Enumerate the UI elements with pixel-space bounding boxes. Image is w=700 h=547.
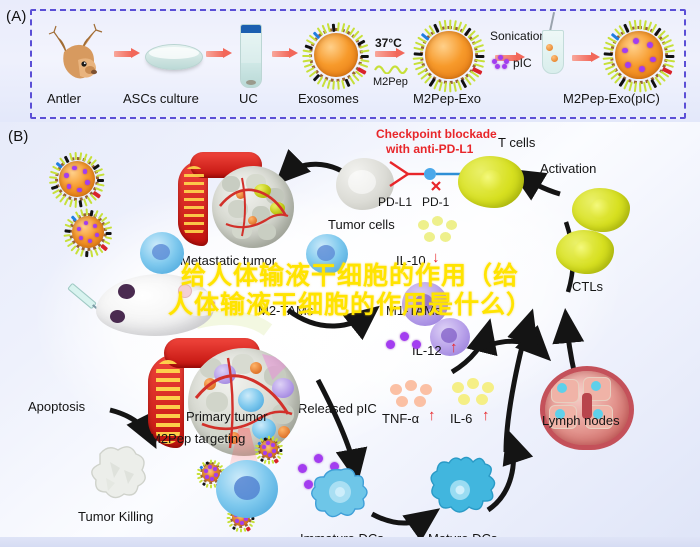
exosome-spike xyxy=(96,173,104,176)
arrow-a-3 xyxy=(272,48,298,59)
pic-cargo-dot xyxy=(650,57,656,63)
m2pep-exosome-icon xyxy=(416,22,482,88)
label-uc: UC xyxy=(239,92,258,105)
exosome-spike xyxy=(302,55,311,57)
exosome-spike xyxy=(444,20,447,30)
exosome-spike xyxy=(80,250,84,257)
exosome-icon xyxy=(305,24,367,86)
exosome-spike xyxy=(279,452,283,455)
pic-cluster-icon xyxy=(492,55,510,69)
pic-cargo-dot xyxy=(205,475,209,479)
label-t-cells: T cells xyxy=(498,136,535,149)
il-12-up-arrow: ↑ xyxy=(450,340,458,355)
panel-a-letter: (A) xyxy=(6,8,27,25)
exosome-spike xyxy=(332,24,336,32)
panel-b-bottom-edge xyxy=(0,537,700,547)
uc-tube-icon xyxy=(240,24,262,88)
label-lymph-nodes: Lymph nodes xyxy=(542,414,620,427)
label-m2pep-exo-pic: M2Pep-Exo(pIC) xyxy=(563,92,660,105)
label-pd-1: PD-1 xyxy=(422,196,449,208)
exosome-spike xyxy=(665,55,674,58)
label-m2pep-exo: M2Pep-Exo xyxy=(413,92,481,105)
exosome-spike xyxy=(75,152,77,160)
antler-deer-icon xyxy=(44,22,114,84)
ctl-cell-1-icon xyxy=(572,188,630,232)
il6-cytokine-dots xyxy=(452,378,498,408)
pic-cargo-dot xyxy=(64,173,69,178)
exosome-spike xyxy=(97,179,104,182)
label-il-6: IL-6 xyxy=(450,412,472,425)
watermark-overlay: 给人体输液干细胞的作用（给 人体输液干细胞的作用是什么） xyxy=(0,262,700,320)
exosome-spike xyxy=(414,52,423,56)
exosome-spike xyxy=(105,236,112,239)
pic-cargo-dot xyxy=(84,221,88,225)
injected-exosome-2-icon xyxy=(66,210,110,254)
label-antler: Antler xyxy=(47,92,81,105)
exosome-spike xyxy=(475,55,484,58)
arrow-a-6 xyxy=(572,52,600,63)
pic-cargo-dot xyxy=(633,38,639,44)
targeted-macrophage-icon xyxy=(216,460,278,518)
pic-cargo-dot xyxy=(204,469,208,473)
injected-exosome-1-icon xyxy=(52,154,102,204)
exosome-spike xyxy=(604,52,613,56)
label-m2pep: M2Pep xyxy=(373,77,408,88)
pic-cargo-dot xyxy=(647,42,653,48)
m2pep-exosome-pic-icon xyxy=(606,22,672,88)
pic-cargo-dot xyxy=(262,445,266,449)
label-ascs-culture: ASCs culture xyxy=(123,92,199,105)
dying-tumor-cell-illustration xyxy=(86,440,152,502)
watermark-line-2: 人体输液干细胞的作用是什么） xyxy=(0,291,700,320)
label-activation: Activation xyxy=(540,162,596,175)
exosome-spike xyxy=(236,528,239,532)
exosome-spike xyxy=(65,229,71,233)
il10-cytokine-dots xyxy=(418,216,462,246)
exosome-spike xyxy=(206,484,209,488)
mature-dc-illustration xyxy=(424,456,498,524)
exosome-spike xyxy=(86,209,88,216)
m2pep-peptide-icon xyxy=(374,62,410,74)
label-pic: pIC xyxy=(513,57,532,69)
label-pd-l1: PD-L1 xyxy=(378,196,412,208)
label-tumor-cells: Tumor cells xyxy=(328,218,395,231)
pic-cargo-dot xyxy=(93,224,97,228)
exosome-spike xyxy=(105,226,112,229)
exosome-spike xyxy=(83,198,87,206)
exosome-spike xyxy=(103,240,110,245)
arrow-a-1 xyxy=(114,48,140,59)
metastatic-tumor-illustration xyxy=(178,152,300,256)
figure-root: (A) Antler ASCs culture xyxy=(0,0,700,547)
label-apoptosis: Apoptosis xyxy=(28,400,85,413)
panel-a: (A) Antler ASCs culture xyxy=(0,0,700,122)
watermark-line-1: 给人体输液干细胞的作用（给 xyxy=(0,262,700,291)
exosome-spike xyxy=(255,449,259,451)
tnf-alpha-cytokine-dots xyxy=(390,380,436,410)
exosome-spike xyxy=(251,520,255,523)
targeting-exosome-1-icon xyxy=(256,436,282,462)
label-tnf-alpha: TNF-α xyxy=(382,412,419,425)
exosome-spike xyxy=(361,55,369,58)
sonication-tube-icon xyxy=(542,22,562,82)
exosome-spike xyxy=(210,484,212,488)
lymph-node-illustration xyxy=(540,366,634,450)
exosome-spike xyxy=(90,250,93,257)
exosome-spike xyxy=(64,198,69,206)
label-primary-tumor: Primary tumor xyxy=(186,410,268,423)
label-temperature: 37°C xyxy=(375,37,402,49)
immature-dc-illustration xyxy=(306,462,376,526)
pic-dots-upper xyxy=(386,332,430,356)
exosome-spike xyxy=(85,251,88,257)
label-anti-pdl1: with anti-PD-L1 xyxy=(386,143,473,155)
exosome-spike xyxy=(268,460,270,464)
pic-cargo-dot xyxy=(77,227,81,231)
exosome-spike xyxy=(449,20,451,30)
t-cell-icon xyxy=(458,156,524,208)
exosome-spike xyxy=(227,517,231,519)
ascs-culture-dish-icon xyxy=(145,44,203,70)
exosome-spike xyxy=(197,473,201,475)
panel-b-letter: (B) xyxy=(8,128,29,145)
exosome-spike xyxy=(268,436,270,440)
label-exosomes: Exosomes xyxy=(298,92,359,105)
label-checkpoint-blockade: Checkpoint blockade xyxy=(376,128,497,140)
exosome-spike xyxy=(639,20,641,30)
panel-b: (B) xyxy=(0,122,700,547)
exosome-spike xyxy=(69,199,73,207)
arrow-a-2 xyxy=(206,48,232,59)
pic-cargo-dot xyxy=(85,180,90,185)
exosome-spike xyxy=(94,249,98,256)
pic-cargo-dot xyxy=(77,188,82,193)
exosome-spike xyxy=(79,200,83,207)
exosome-spike xyxy=(634,20,637,30)
label-tumor-killing: Tumor Killing xyxy=(78,510,153,523)
pic-cargo-dot xyxy=(240,521,244,525)
tnf-alpha-up-arrow: ↑ xyxy=(428,408,436,423)
pic-cargo-dot xyxy=(235,519,239,523)
pic-cargo-dot xyxy=(67,184,72,189)
exosome-spike xyxy=(210,460,212,464)
exosome-spike xyxy=(240,528,242,532)
label-sonication: Sonication xyxy=(490,30,546,42)
exosome-spike xyxy=(106,232,112,235)
label-m2pep-targeting: M2Pep targeting xyxy=(150,432,245,445)
pic-cargo-dot xyxy=(263,451,267,455)
exosome-spike xyxy=(337,81,340,90)
pic-cargo-dot xyxy=(625,62,631,68)
pic-cargo-dot xyxy=(210,477,214,481)
exosome-spike xyxy=(75,200,77,208)
exosome-spike xyxy=(75,248,80,255)
exosome-spike xyxy=(50,176,58,179)
pic-cargo-dot xyxy=(268,453,272,457)
il-6-up-arrow: ↑ xyxy=(482,408,490,423)
